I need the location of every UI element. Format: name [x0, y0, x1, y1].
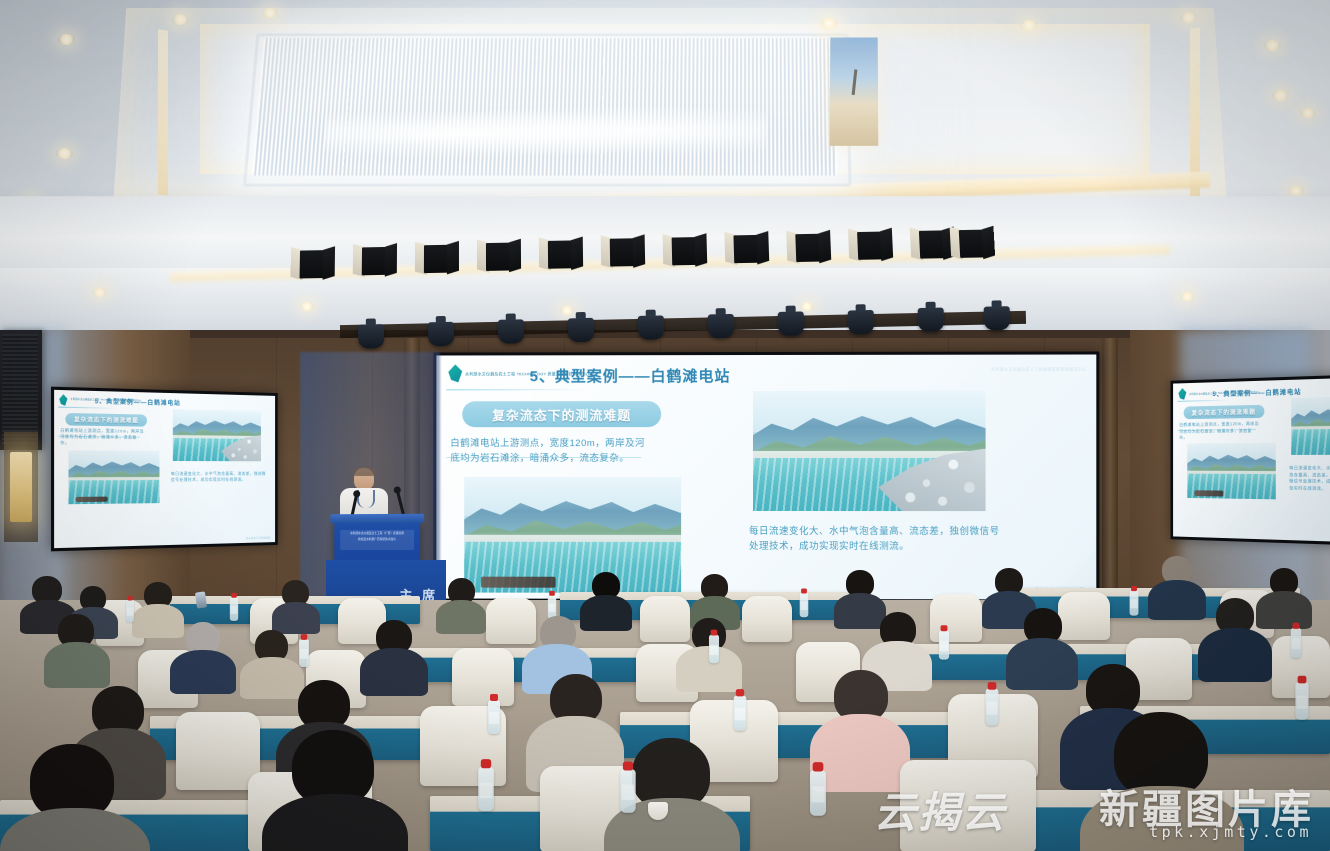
podium-banner-line1: 水利部水文仪器及岩土工程（广西）质量监督: [340, 530, 414, 536]
water-bottle: [230, 597, 238, 621]
audience-person: [436, 578, 486, 630]
water-bottle: [939, 630, 949, 659]
wall-sconce-lamp: [10, 452, 32, 522]
spotlight: [428, 322, 454, 347]
downlight: [262, 8, 278, 18]
slide-photo-left: [68, 450, 159, 504]
chandelier-frame: [243, 33, 852, 186]
stage-light: [951, 226, 995, 261]
downlight: [1180, 292, 1195, 301]
audience-person: [0, 744, 150, 851]
audience-person: [262, 730, 408, 851]
water-bottle: [734, 695, 746, 730]
stage-light: [664, 233, 707, 268]
downlight: [1288, 186, 1304, 196]
water-bottle: [1295, 682, 1308, 719]
slide-body-text-2: 每日流速变化大、水中气泡含量高、流态差，独创微信号处理技术，成功实现实时在线测流…: [749, 525, 1002, 555]
water-bottle: [800, 593, 809, 617]
slide-highlight-pill: 复杂流态下的测流难题: [65, 413, 147, 427]
podium-banner: 水利部水文仪器及岩土工程（广西）质量监督 检验及水利部广西科研技术展示: [340, 530, 414, 550]
audience-person: [1080, 712, 1244, 851]
slide-highlight-pill: 复杂流态下的测流难题: [1184, 405, 1265, 419]
podium-banner-line2: 检验及水利部广西科研技术展示: [340, 536, 414, 542]
slide-corner-note: 水利部水文仪器及岩土工程质量监督检验测试中心: [991, 367, 1086, 373]
side-screen-right: 水利部水文仪器及岩土工程 TECHNOLOGY 质量监督检验测试中心 5、典型案…: [1170, 375, 1330, 545]
slide-highlight-pill: 复杂流态下的测流难题: [462, 401, 661, 427]
spotlight: [498, 319, 524, 344]
slide-photo-left: [1187, 443, 1276, 499]
presentation-slide: 水利部水文仪器及岩土工程 TECHNOLOGY 质量监督检验测试中心 5、典型案…: [436, 354, 1096, 599]
podium-top-edge: [330, 514, 424, 523]
presentation-slide-right-mirror: 水利部水文仪器及岩土工程 TECHNOLOGY 质量监督检验测试中心 5、典型案…: [1173, 378, 1330, 542]
slide-body-text: 白鹤滩电站上游测点，宽度120m，两岸及河底均为岩石滩涂，暗涌众多，流态复杂。: [60, 427, 144, 447]
downlight: [58, 34, 75, 45]
stage-light: [416, 241, 458, 276]
side-screen-left: 水利部水文仪器及岩土工程 TECHNOLOGY 质量监督检验测试中心 5、典型案…: [51, 387, 278, 552]
smartphone: [195, 591, 207, 608]
stage-light: [911, 226, 955, 261]
downlight: [1272, 90, 1289, 101]
audience-person: [1198, 598, 1272, 674]
spotlight: [918, 308, 944, 333]
stage-light: [787, 230, 830, 265]
slide-photo-left: [464, 477, 681, 593]
slide-body-text: 白鹤滩电站上游测点，宽度120m，两岸及河底均为岩石滩涂，暗涌众多，流态复杂。: [450, 437, 649, 466]
water-bottle: [488, 700, 500, 734]
spotlight: [358, 324, 384, 349]
stage-light: [725, 231, 768, 266]
slide-title: 5、典型案例——白鹤滩电站: [530, 365, 731, 386]
spotlight: [848, 310, 874, 335]
downlight: [56, 148, 73, 159]
audience-person: [810, 670, 910, 778]
spotlight: [778, 311, 804, 336]
slide-body-text-2: 每日流速变化大、水中气泡含量高、流态差，独创微信号处理技术，成功实现实时在线测流…: [1289, 465, 1330, 492]
presentation-slide-left-mirror: 水利部水文仪器及岩土工程 TECHNOLOGY 质量监督检验测试中心 5、典型案…: [54, 390, 275, 548]
downlight: [300, 302, 314, 311]
stage-light: [354, 243, 396, 278]
slide-body-text-2: 每日流速变化大、水中气泡含量高、流态差，独创微信号处理技术，成功实现实时在线测流…: [171, 471, 266, 483]
audience-person: [44, 614, 110, 682]
water-bottle: [1130, 590, 1139, 615]
water-bottle: [709, 635, 719, 664]
chair: [900, 760, 1036, 851]
stage-light: [291, 246, 334, 281]
cove-light-left: [158, 29, 168, 196]
downlight: [172, 14, 189, 25]
spotlight: [638, 315, 664, 340]
water-bottle: [810, 770, 826, 816]
water-bottle: [1291, 628, 1302, 658]
downlight: [92, 288, 107, 297]
slide-title-underline: [446, 389, 585, 390]
crystal-chandelier: [252, 38, 837, 175]
water-bottle: [126, 600, 134, 622]
slide-photo-right: [173, 409, 261, 461]
chair: [742, 596, 792, 642]
audience-person: [170, 622, 236, 688]
chair: [452, 648, 514, 706]
slide-footer-note: 复杂流态下的测流难题: [246, 535, 271, 540]
water-bottle: [299, 639, 309, 667]
presenter-hair: [353, 467, 375, 476]
spotlight: [708, 314, 734, 339]
downlight: [820, 18, 838, 29]
downlight: [1264, 40, 1281, 51]
chair: [930, 594, 982, 642]
spotlight: [984, 306, 1010, 331]
slide-photo-right: [1291, 396, 1330, 455]
stage-light: [602, 234, 645, 269]
slide-body-text: 白鹤滩电站上游测点，宽度120m，两岸及河底均为岩石滩涂，暗涌众多，流态复杂。: [1179, 421, 1259, 441]
water-bottle: [620, 769, 635, 813]
leaf-logo-icon: [1178, 388, 1186, 400]
slide-title: 5、典型案例——白鹤滩电站: [1212, 386, 1301, 398]
ceiling-artwork-panel: [830, 37, 879, 145]
stage-light: [849, 227, 892, 262]
spotlight: [568, 318, 594, 343]
downlight: [1020, 20, 1038, 31]
audience-person: [272, 580, 320, 630]
water-bottle: [986, 689, 999, 726]
stage-light: [540, 236, 582, 271]
leaf-logo-icon: [448, 364, 462, 382]
stage-light: [478, 238, 520, 273]
slide-title: 5、典型案例——白鹤滩电站: [95, 396, 181, 407]
downlight: [1180, 12, 1197, 23]
downlight: [1300, 108, 1316, 118]
slide-photo-right: [753, 391, 986, 511]
ceiling: [0, 0, 1330, 345]
leaf-logo-icon: [59, 394, 67, 406]
main-projection-screen: 水利部水文仪器及岩土工程 TECHNOLOGY 质量监督检验测试中心 5、典型案…: [433, 351, 1099, 602]
conference-photo: 水利部水文仪器及岩土工程 TECHNOLOGY 质量监督检验测试中心 5、典型案…: [0, 0, 1330, 851]
water-bottle: [478, 767, 494, 811]
chair: [176, 712, 260, 790]
